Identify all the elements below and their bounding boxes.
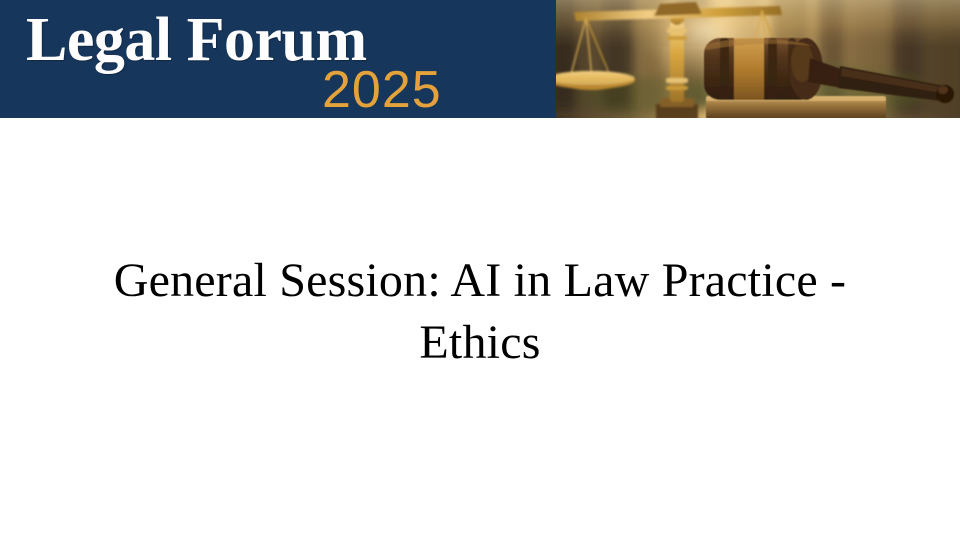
event-logo: Legal Forum 2025 <box>26 6 496 114</box>
scales-and-gavel-illustration <box>556 0 960 118</box>
banner-navy-panel: Legal Forum 2025 <box>0 0 556 118</box>
presentation-slide: Legal Forum 2025 <box>0 0 960 540</box>
banner-photo <box>556 0 960 118</box>
event-logo-year: 2025 <box>322 62 442 118</box>
slide-title: General Session: AI in Law Practice - Et… <box>48 250 912 374</box>
event-logo-name: Legal Forum <box>26 6 367 74</box>
slide-title-block: General Session: AI in Law Practice - Et… <box>48 250 912 374</box>
slide-banner: Legal Forum 2025 <box>0 0 960 118</box>
